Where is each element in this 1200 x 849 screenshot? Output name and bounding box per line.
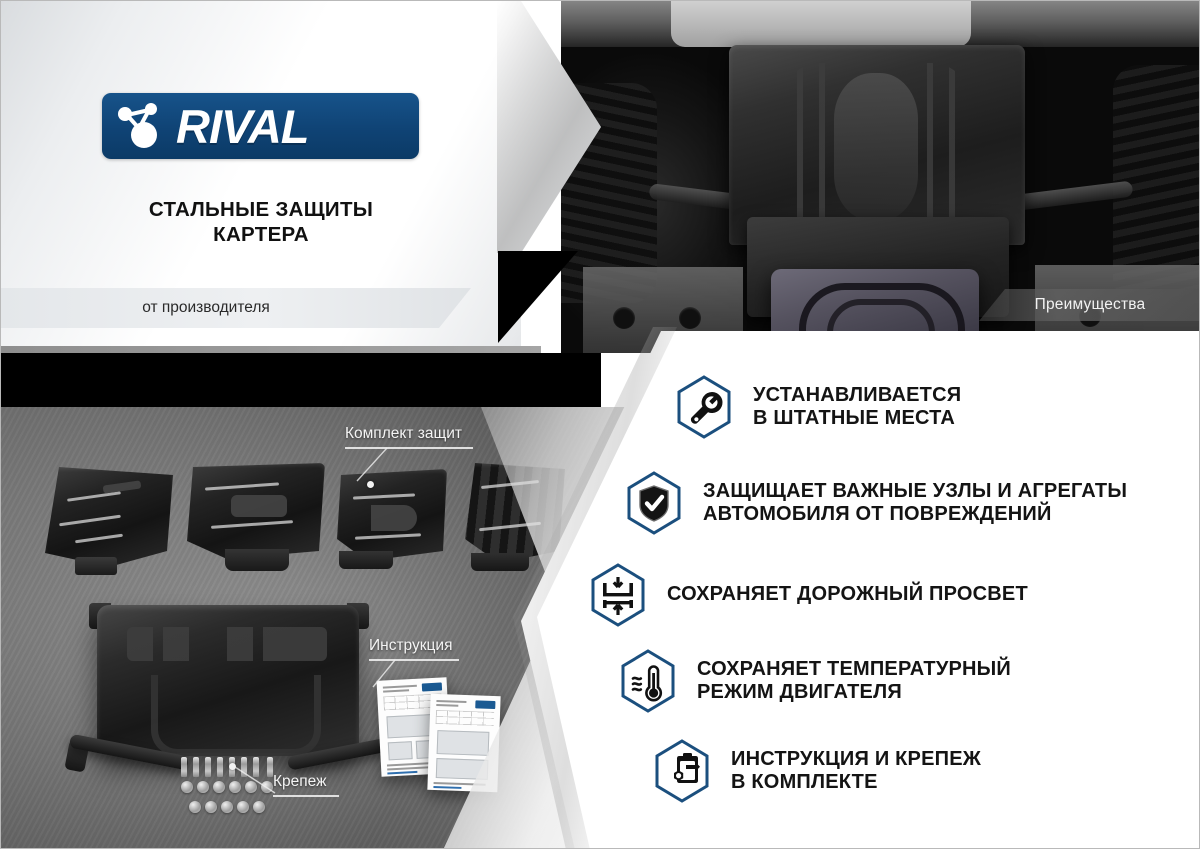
photo-rail-hole bbox=[613, 307, 635, 329]
skid-plate-tab-1 bbox=[75, 557, 117, 575]
callout-leader-instruction bbox=[361, 659, 397, 695]
page-title-line2: КАРТЕРА bbox=[61, 222, 461, 247]
page-title: СТАЛЬНЫЕ ЗАЩИТЫ КАРТЕРА bbox=[61, 197, 461, 247]
rival-wordmark: RIVAL bbox=[176, 103, 309, 150]
thermometer-icon bbox=[619, 649, 677, 713]
photo-skid-plate-main bbox=[729, 45, 1025, 245]
hero-divider-rule bbox=[1, 346, 541, 353]
shield-check-icon bbox=[625, 471, 683, 535]
page-title-line1: СТАЛЬНЫЕ ЗАЩИТЫ bbox=[61, 197, 461, 222]
callout-dot-kit bbox=[367, 481, 374, 488]
feature-item-clearance: СОХРАНЯЕТ ДОРОЖНЫЙ ПРОСВЕТ bbox=[589, 563, 1028, 627]
feature-item-install: УСТАНАВЛИВАЕТСЯ В ШТАТНЫЕ МЕСТА bbox=[675, 375, 961, 439]
clipboard-bolt-icon bbox=[653, 739, 711, 803]
advantages-ribbon-label: Преимущества bbox=[1035, 296, 1146, 314]
feature-label-protects: ЗАЩИЩАЕТ ВАЖНЫЕ УЗЛЫ И АГРЕГАТЫ АВТОМОБИ… bbox=[703, 480, 1127, 526]
subtitle-text: от производителя bbox=[1, 299, 411, 317]
skid-plate-tab-3 bbox=[339, 551, 393, 569]
photo-bumper-highlight bbox=[671, 1, 971, 47]
callout-leader-kit bbox=[337, 447, 389, 491]
molecule-icon bbox=[116, 101, 172, 151]
feature-label-install: УСТАНАВЛИВАЕТСЯ В ШТАТНЫЕ МЕСТА bbox=[753, 384, 961, 430]
subtitle-band: от производителя bbox=[1, 288, 471, 328]
callout-label-instruction: Инструкция bbox=[369, 637, 452, 655]
wrench-icon bbox=[675, 375, 733, 439]
ground-clearance-icon bbox=[589, 563, 647, 627]
rival-logo: RIVAL bbox=[102, 93, 419, 159]
feature-item-kit-included: ИНСТРУКЦИЯ И КРЕПЕЖ В КОМПЛЕКТЕ bbox=[653, 739, 981, 803]
callout-dot-hardware bbox=[229, 763, 236, 770]
feature-label-kit-included: ИНСТРУКЦИЯ И КРЕПЕЖ В КОМПЛЕКТЕ bbox=[731, 748, 981, 794]
callout-leader-hardware bbox=[231, 765, 283, 801]
skid-plate-piece-2 bbox=[187, 463, 325, 559]
skid-plate-tab-2 bbox=[225, 549, 289, 571]
engine-guard-main bbox=[97, 605, 359, 753]
feature-label-temperature: СОХРАНЯЕТ ТЕМПЕРАТУРНЫЙ РЕЖИМ ДВИГАТЕЛЯ bbox=[697, 658, 1011, 704]
hero-black-strip bbox=[1, 353, 601, 409]
promo-banner: Преимущества RIVAL СТАЛЬНЫЕ ЗАЩИТЫ КАРТЕ… bbox=[0, 0, 1200, 849]
advantages-ribbon: Преимущества bbox=[979, 289, 1200, 321]
skid-plate-piece-1 bbox=[45, 467, 173, 567]
feature-label-clearance: СОХРАНЯЕТ ДОРОЖНЫЙ ПРОСВЕТ bbox=[667, 583, 1028, 606]
callout-label-kit: Комплект защит bbox=[345, 425, 462, 443]
photo-rail-hole bbox=[679, 307, 701, 329]
feature-item-protects: ЗАЩИЩАЕТ ВАЖНЫЕ УЗЛЫ И АГРЕГАТЫ АВТОМОБИ… bbox=[625, 471, 1127, 535]
feature-item-temperature: СОХРАНЯЕТ ТЕМПЕРАТУРНЫЙ РЕЖИМ ДВИГАТЕЛЯ bbox=[619, 649, 1011, 713]
skid-plate-tab-4 bbox=[471, 553, 529, 571]
